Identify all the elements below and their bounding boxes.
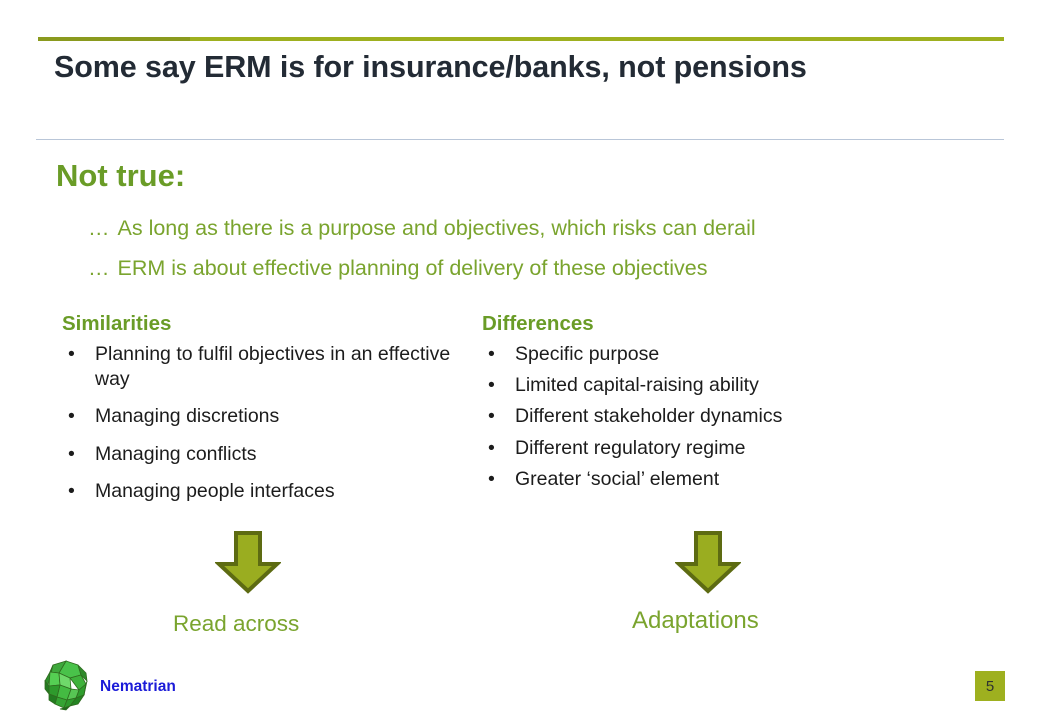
ellipsis-dots-2: … (88, 256, 110, 280)
bullet-dot-icon: • (68, 442, 75, 467)
list-item-label: Greater ‘social’ element (515, 468, 719, 490)
bullet-dot-icon: • (488, 404, 495, 429)
list-item: • Managing conflicts (62, 442, 462, 467)
list-item-label: Managing people interfaces (95, 480, 335, 502)
footer-brand-label: Nematrian (100, 678, 176, 696)
top-accent-rule (38, 37, 1004, 41)
accent-rule-dark-segment (38, 37, 190, 41)
ellipsis-dots-1: … (88, 216, 110, 240)
list-item-label: Planning to fulfil objectives in an effe… (95, 343, 450, 390)
column-heading-similarities: Similarities (62, 312, 462, 336)
list-item-label: Managing conflicts (95, 443, 257, 465)
column-differences: Differences • Specific purpose • Limited… (482, 312, 902, 498)
list-item-label: Different stakeholder dynamics (515, 405, 782, 427)
list-item: • Different regulatory regime (482, 436, 902, 461)
bullet-dot-icon: • (488, 373, 495, 398)
list-item-label: Different regulatory regime (515, 437, 746, 459)
bullet-dot-icon: • (488, 342, 495, 367)
list-item-label: Limited capital-raising ability (515, 374, 759, 396)
lead-statement-colon: : (175, 158, 185, 193)
bullet-dot-icon: • (68, 404, 75, 429)
list-item-label: Managing discretions (95, 405, 279, 427)
column-heading-differences: Differences (482, 312, 902, 336)
list-item: • Managing people interfaces (62, 479, 462, 504)
lead-statement: Not true: (56, 158, 185, 194)
arrow-caption-adaptations: Adaptations (632, 607, 759, 635)
page-number-badge: 5 (975, 671, 1005, 701)
down-arrow-icon (675, 530, 741, 594)
list-item-label: Specific purpose (515, 343, 659, 365)
ellipsis-line-2: …ERM is about effective planning of deli… (88, 256, 708, 281)
lead-statement-strong: Not true (56, 158, 175, 193)
bullet-dot-icon: • (68, 479, 75, 504)
list-item: • Greater ‘social’ element (482, 467, 902, 492)
slide: Some say ERM is for insurance/banks, not… (0, 0, 1040, 720)
list-item: • Planning to fulfil objectives in an ef… (62, 342, 462, 393)
ellipsis-text-1: As long as there is a purpose and object… (118, 216, 756, 240)
bullet-dot-icon: • (488, 436, 495, 461)
bullet-dot-icon: • (488, 467, 495, 492)
column-similarities: Similarities • Planning to fulfil object… (62, 312, 462, 516)
list-item: • Limited capital-raising ability (482, 373, 902, 398)
down-arrow-icon (215, 530, 281, 594)
list-item: • Specific purpose (482, 342, 902, 367)
accent-rule-light-segment (190, 37, 1004, 41)
slide-title: Some say ERM is for insurance/banks, not… (54, 50, 1014, 85)
ellipsis-text-2: ERM is about effective planning of deliv… (118, 256, 708, 280)
nematrian-logo-icon (40, 659, 92, 711)
list-item: • Different stakeholder dynamics (482, 404, 902, 429)
list-item: • Managing discretions (62, 404, 462, 429)
bullet-list-differences: • Specific purpose • Limited capital-rai… (482, 342, 902, 493)
title-divider (36, 139, 1004, 140)
bullet-list-similarities: • Planning to fulfil objectives in an ef… (62, 342, 462, 505)
ellipsis-line-1: …As long as there is a purpose and objec… (88, 216, 756, 241)
arrow-caption-read-across: Read across (173, 611, 299, 637)
bullet-dot-icon: • (68, 342, 75, 367)
